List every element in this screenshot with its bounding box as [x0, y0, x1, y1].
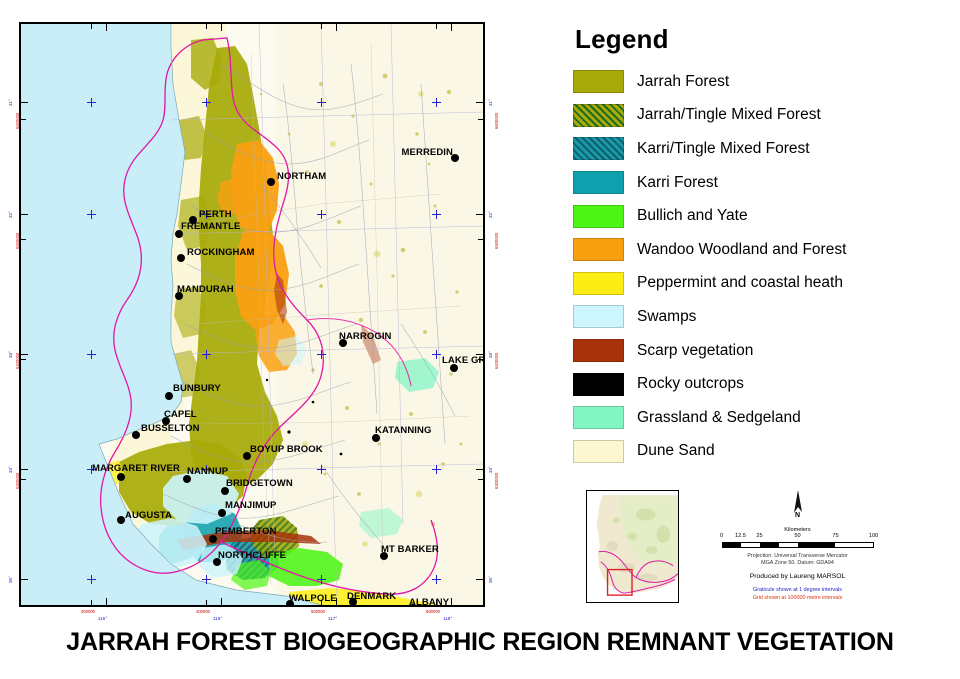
degree-tick-left	[21, 102, 28, 103]
city-label: NORTHAM	[277, 172, 326, 181]
legend-swatch	[573, 373, 624, 396]
legend-label: Scarp vegetation	[637, 342, 753, 360]
graticule-cross	[317, 210, 326, 219]
degree-label-left: 34°	[8, 466, 13, 473]
degree-label-left: 33°	[8, 351, 13, 358]
degree-tick-top	[221, 24, 222, 31]
city-label: CAPEL	[164, 410, 197, 419]
legend-item[interactable]: Wandoo Woodland and Forest	[573, 233, 953, 267]
city-label: NORTHCLIFFE	[218, 551, 286, 560]
legend-item[interactable]: Karri Forest	[573, 166, 953, 200]
legend-item[interactable]: Peppermint and coastal heath	[573, 267, 953, 301]
degree-tick-top	[336, 24, 337, 31]
grid-label-right: 6300000	[494, 473, 499, 489]
city-label: KATANNING	[375, 426, 432, 435]
degree-tick-bottom	[106, 598, 107, 605]
scale-tick-label: 100	[869, 533, 878, 539]
legend-swatch	[573, 205, 624, 228]
legend-swatch	[573, 171, 624, 194]
legend-label: Wandoo Woodland and Forest	[637, 241, 846, 259]
legend-label: Swamps	[637, 308, 696, 326]
legend-label: Bullich and Yate	[637, 207, 748, 225]
graticule-cross	[432, 465, 441, 474]
inset-locator-map[interactable]	[586, 490, 679, 603]
grid-tick-left	[21, 359, 26, 360]
grid-label-right: 6600000	[494, 113, 499, 129]
legend-swatch	[573, 440, 624, 463]
degree-label-bottom: 117°	[328, 616, 337, 621]
map-panel: 300000400000500000600000115°116°117°118°…	[19, 22, 485, 607]
legend-label: Dune Sand	[637, 442, 715, 460]
city-dot	[117, 516, 125, 524]
grid-tick-right	[478, 119, 483, 120]
legend-label: Karri/Tingle Mixed Forest	[637, 140, 810, 158]
graticule-cross	[87, 210, 96, 219]
page-title: JARRAH FOREST BIOGEOGRAPHIC REGION REMNA…	[0, 628, 960, 657]
city-label: MARGARET RIVER	[92, 464, 180, 473]
grid-label-bottom: 400000	[196, 609, 210, 614]
grid-tick-left	[21, 119, 26, 120]
legend-swatch	[573, 305, 624, 328]
legend-swatch	[573, 238, 624, 261]
grid-tick-top	[436, 24, 437, 29]
scale-tick-label: 50	[794, 533, 800, 539]
city-label: MANDURAH	[177, 285, 234, 294]
projection-line-2: MGA Zone 50. Datum: GDA94	[700, 560, 895, 567]
city-label: NARROGIN	[339, 332, 392, 341]
degree-label-bottom: 115°	[98, 616, 107, 621]
city-label: PERTH	[199, 210, 232, 219]
graticule-cross	[87, 98, 96, 107]
degree-label-right: 33°	[488, 351, 493, 358]
scale-tick-label: 25	[756, 533, 762, 539]
scale-tick-label: 75	[832, 533, 838, 539]
grid-tick-top	[91, 24, 92, 29]
legend-item[interactable]: Dune Sand	[573, 435, 953, 469]
graticule-cross	[202, 575, 211, 584]
city-label: BOYUP BROOK	[250, 445, 323, 454]
city-label: BUSSELTON	[141, 424, 200, 433]
degree-label-right: 32°	[488, 211, 493, 218]
legend-item[interactable]: Rocky outcrops	[573, 367, 953, 401]
graticule-note: Graticule shown at 1 degree intervals	[700, 587, 895, 594]
grid-note: Grid shown at 100000 metre intervals	[700, 595, 895, 602]
legend-item-list: Jarrah ForestJarrah/Tingle Mixed ForestK…	[573, 65, 953, 468]
scale-tick-label: 12.5	[735, 533, 746, 539]
degree-tick-bottom	[336, 598, 337, 605]
legend-item[interactable]: Karri/Tingle Mixed Forest	[573, 132, 953, 166]
scale-tick-label: 0	[720, 533, 723, 539]
degree-tick-bottom	[451, 598, 452, 605]
city-label: MERREDIN	[402, 148, 453, 157]
grid-tick-right	[478, 239, 483, 240]
city-dot	[177, 254, 185, 262]
degree-tick-left	[21, 579, 28, 580]
graticule-cross	[317, 350, 326, 359]
legend-swatch	[573, 104, 624, 127]
degree-tick-right	[476, 354, 483, 355]
grid-tick-right	[478, 479, 483, 480]
degree-tick-right	[476, 102, 483, 103]
grid-label-right: 6400000	[494, 353, 499, 369]
north-arrow-icon: N	[700, 490, 895, 526]
legend-item[interactable]: Jarrah Forest	[573, 65, 953, 99]
grid-tick-bottom	[436, 600, 437, 605]
degree-tick-top	[451, 24, 452, 31]
legend-swatch	[573, 137, 624, 160]
inset-geometry	[587, 491, 678, 602]
city-label: DENMARK	[347, 592, 396, 601]
grid-tick-bottom	[91, 600, 92, 605]
grid-label-bottom: 300000	[81, 609, 95, 614]
degree-tick-left	[21, 354, 28, 355]
degree-label-right: 31°	[488, 99, 493, 106]
legend-item[interactable]: Bullich and Yate	[573, 199, 953, 233]
city-label: FREMANTLE	[181, 222, 240, 231]
city-label: AUGUSTA	[125, 511, 172, 520]
degree-tick-bottom	[221, 598, 222, 605]
graticule-cross	[317, 575, 326, 584]
legend-item[interactable]: Scarp vegetation	[573, 334, 953, 368]
city-label: MT BARKER	[381, 545, 439, 554]
city-label: ROCKINGHAM	[187, 248, 255, 257]
scale-bar	[722, 542, 874, 548]
map-frame[interactable]: MERREDINNORTHAMPERTHFREMANTLEROCKINGHAMM…	[19, 22, 485, 607]
legend-swatch	[573, 406, 624, 429]
graticule-cross	[432, 575, 441, 584]
map-info-panel: N Kilometers 012.5255075100 Projection: …	[700, 490, 895, 602]
legend-label: Grassland & Sedgeland	[637, 409, 801, 427]
scale-tick-labels: 012.5255075100	[722, 533, 874, 541]
grid-tick-top	[321, 24, 322, 29]
graticule-cross	[317, 98, 326, 107]
city-dot	[267, 178, 275, 186]
degree-tick-right	[476, 214, 483, 215]
grid-tick-bottom	[321, 600, 322, 605]
north-letter-label: N	[795, 512, 800, 519]
graticule-cross	[432, 350, 441, 359]
grid-tick-left	[21, 239, 26, 240]
city-label: PEMBERTON	[215, 527, 276, 536]
grid-label-right: 6500000	[494, 233, 499, 249]
legend-item[interactable]: Swamps	[573, 300, 953, 334]
grid-tick-top	[206, 24, 207, 29]
degree-label-left: 32°	[8, 211, 13, 218]
city-dot	[117, 473, 125, 481]
legend-swatch	[573, 272, 624, 295]
legend-title: Legend	[575, 24, 953, 55]
city-label: BRIDGETOWN	[226, 479, 293, 488]
legend-item[interactable]: Jarrah/Tingle Mixed Forest	[573, 99, 953, 133]
graticule-cross	[432, 98, 441, 107]
degree-tick-left	[21, 214, 28, 215]
legend-label: Rocky outcrops	[637, 375, 744, 393]
legend-label: Peppermint and coastal heath	[637, 274, 843, 292]
degree-label-right: 34°	[488, 466, 493, 473]
graticule-cross	[87, 575, 96, 584]
city-label: LAKE GRACE	[442, 356, 485, 365]
city-label: NANNUP	[187, 467, 228, 476]
legend-item[interactable]: Grassland & Sedgeland	[573, 401, 953, 435]
legend-label: Jarrah Forest	[637, 73, 729, 91]
city-label: ALBANY	[409, 598, 449, 607]
degree-tick-left	[21, 469, 28, 470]
grid-label-bottom: 600000	[426, 609, 440, 614]
legend-label: Karri Forest	[637, 174, 718, 192]
projection-line-1: Projection: Universal Transverse Mercato…	[700, 553, 895, 560]
degree-label-bottom: 116°	[213, 616, 222, 621]
degree-label-left: 31°	[8, 99, 13, 106]
degree-label-left: 35°	[8, 576, 13, 583]
legend-panel: Legend Jarrah ForestJarrah/Tingle Mixed …	[573, 24, 953, 468]
city-label: WALPOLE	[289, 594, 337, 603]
grid-tick-bottom	[206, 600, 207, 605]
degree-label-right: 35°	[488, 576, 493, 583]
degree-tick-right	[476, 579, 483, 580]
grid-tick-right	[478, 359, 483, 360]
degree-tick-right	[476, 469, 483, 470]
degree-label-bottom: 118°	[443, 616, 452, 621]
graticule-cross	[317, 465, 326, 474]
city-label: BUNBURY	[173, 384, 221, 393]
graticule-cross	[202, 350, 211, 359]
grid-label-bottom: 500000	[311, 609, 325, 614]
city-dot	[132, 431, 140, 439]
map-geometry-layer	[21, 24, 483, 605]
grid-tick-left	[21, 479, 26, 480]
legend-swatch	[573, 70, 624, 93]
graticule-cross	[432, 210, 441, 219]
produced-by-label: Produced by Laureng MARSOL	[700, 573, 895, 580]
city-dot	[165, 392, 173, 400]
degree-tick-top	[106, 24, 107, 31]
graticule-cross	[87, 350, 96, 359]
legend-swatch	[573, 339, 624, 362]
graticule-cross	[202, 98, 211, 107]
legend-label: Jarrah/Tingle Mixed Forest	[637, 106, 821, 124]
city-label: MANJIMUP	[225, 501, 276, 510]
